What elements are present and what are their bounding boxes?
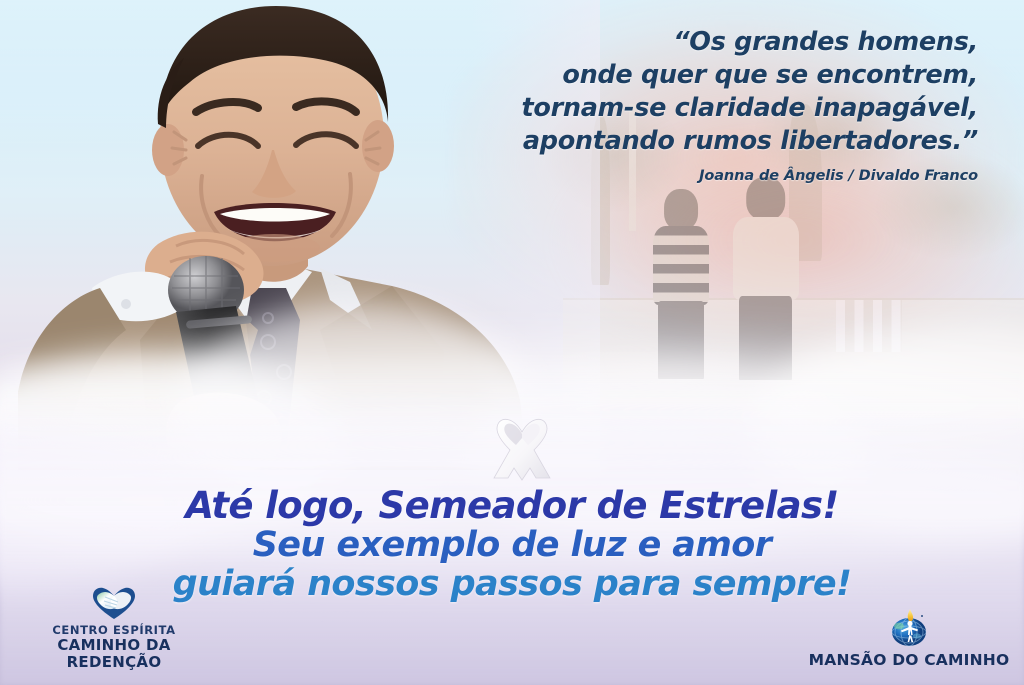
quote-author: Joanna de Ângelis / Divaldo Franco <box>418 168 978 184</box>
globe-figure-flame-icon <box>886 608 932 648</box>
quote-line-1: “Os grandes homens, <box>418 26 978 59</box>
quote-line-2: onde quer que se encontrem, <box>418 59 978 92</box>
mourning-ribbon-icon <box>484 408 560 486</box>
logo-centro-espirita[interactable]: CENTRO ESPÍRITA CAMINHO DA REDENÇÃO <box>14 586 214 671</box>
quote-line-4: apontando rumos libertadores.” <box>418 125 978 158</box>
headline-line-1: Até logo, Semeador de Estrelas! <box>0 486 1024 526</box>
logo-left-line2: CAMINHO DA REDENÇÃO <box>14 637 214 671</box>
hands-heart-icon <box>92 586 136 620</box>
memorial-poster: “Os grandes homens, onde quer que se enc… <box>0 0 1024 685</box>
person-head <box>664 189 698 230</box>
logo-right-line2: MANSÃO DO CAMINHO <box>804 652 1014 669</box>
quote-block: “Os grandes homens, onde quer que se enc… <box>418 26 978 184</box>
headline-line-2: Seu exemplo de luz e amor <box>0 526 1024 565</box>
logo-mansao-do-caminho[interactable]: MANSÃO DO CAMINHO <box>804 608 1014 669</box>
quote-line-3: tornam-se claridade inapagável, <box>418 92 978 125</box>
